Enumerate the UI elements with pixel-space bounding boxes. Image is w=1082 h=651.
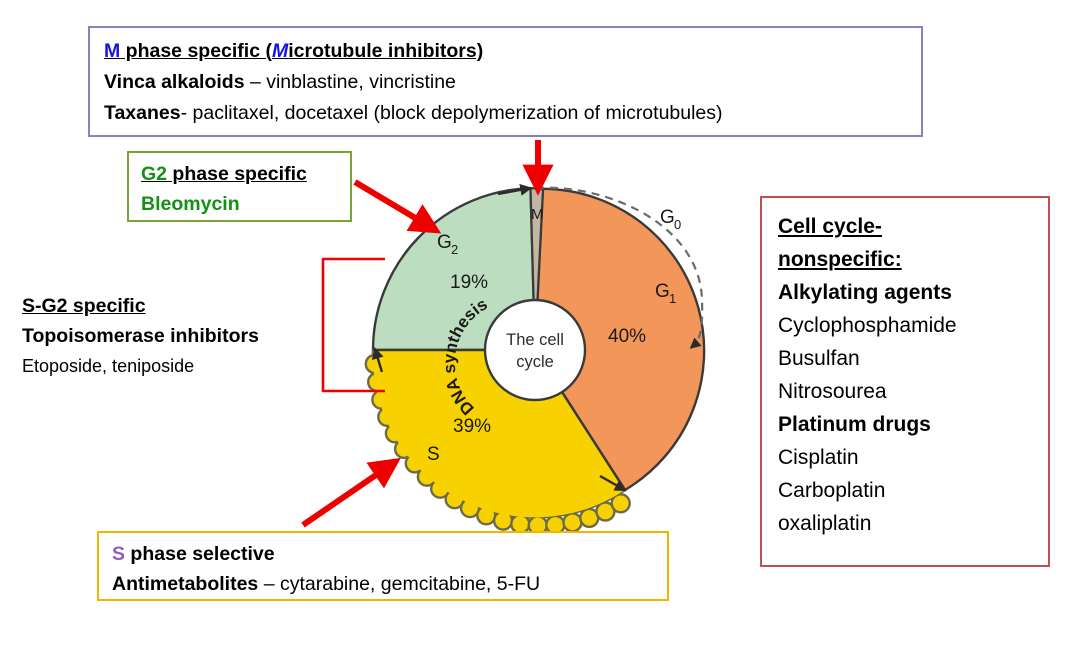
bracket-s-g2 [323,259,385,391]
s-phase-selective-box: S phase selective Antimetabolites – cyta… [97,531,669,601]
s-g2-title: S-G2 specific [22,291,332,321]
pie-value-g1: 40% [608,326,646,347]
g2-phase-title: G2 phase specific [141,159,350,189]
g2-phase-specific-box: G2 phase specific Bleomycin [127,151,352,222]
g0-dashed-arc [536,188,702,346]
pie-label-g1-sub: 1 [669,291,676,306]
m-phase-title-ital: M [272,40,288,62]
s-phase-title-black: phase selective [125,543,275,565]
pie-label-dna-synthesis: DNA synthesis [440,294,491,418]
alkylating-drug-2: Busulfan [778,342,1048,375]
m-phase-title-mid: phase specific ( [120,40,272,62]
m-phase-title-prefix: M [104,40,120,62]
cell-cycle-nonspecific-box: Cell cycle- nonspecific: Alkylating agen… [760,196,1050,567]
pie-sector-g1 [535,189,704,490]
pie-sector-m [531,188,544,350]
alkylating-drug-3: Nitrosourea [778,375,1048,408]
vinca-alkaloids-label: Vinca alkaloids [104,71,245,93]
rim-arrow-left [376,351,383,372]
pie-label-g0-sub: 0 [674,217,681,232]
nonspecific-title-line1: Cell cycle- [778,210,1048,243]
m-phase-title: M phase specific (Microtubule inhibitors… [104,36,909,67]
g2-phase-title-black: phase specific [167,163,307,185]
m-phase-title-suffix: icrotubule inhibitors) [288,40,483,62]
m-phase-line-2: Vinca alkaloids – vinblastine, vincristi… [104,67,909,98]
s-phase-title-violet: S [112,543,125,565]
arrow-g2-phase [355,182,432,228]
center-label-line2: cycle [516,353,554,371]
m-phase-specific-box: M phase specific (Microtubule inhibitors… [88,26,923,137]
topoisomerase-inhibitors-label: Topoisomerase inhibitors [22,321,332,351]
alkylating-agents-heading: Alkylating agents [778,276,1048,309]
pie-label-m: M [531,206,544,223]
rim-arrow-bottom-right [600,476,623,489]
pie-value-g2: 19% [450,272,488,293]
nonspecific-title-line2: nonspecific: [778,243,1048,276]
pie-label-g2-sub: 2 [451,242,458,257]
pie-sector-g2 [373,188,535,350]
platinum-drug-3: oxaliplatin [778,507,1048,540]
platinum-drug-2: Carboplatin [778,474,1048,507]
s-phase-title: S phase selective [112,539,667,569]
pie-label-g1: G [655,281,670,302]
pie-label-g0: G [660,207,675,228]
g2-phase-title-green: G2 [141,163,167,185]
topoisomerase-drugs: Etoposide, teniposide [22,351,332,381]
taxanes-label: Taxanes [104,102,181,124]
s-phase-line-2: Antimetabolites – cytarabine, gemcitabin… [112,569,667,599]
m-phase-line-3: Taxanes- paclitaxel, docetaxel (block de… [104,98,909,129]
antimetabolites-drugs: – cytarabine, gemcitabine, 5-FU [258,573,540,595]
vinca-alkaloids-drugs: – vinblastine, vincristine [245,71,456,93]
center-label-line1: The cell [506,331,564,349]
s-g2-specific-block: S-G2 specific Topoisomerase inhibitors E… [22,291,332,381]
taxanes-drugs: - paclitaxel, docetaxel (block depolymer… [181,102,723,124]
pie-label-s: S [427,444,440,465]
rim-arrow-top [498,189,528,195]
platinum-drug-1: Cisplatin [778,441,1048,474]
alkylating-drug-1: Cyclophosphamide [778,309,1048,342]
cell-cycle-center-circle [485,300,585,400]
antimetabolites-label: Antimetabolites [112,573,258,595]
pie-sector-s [366,350,630,534]
arrow-s-phase [303,464,392,525]
pie-label-g2: G [437,232,452,253]
bleomycin-label: Bleomycin [141,189,350,219]
platinum-drugs-heading: Platinum drugs [778,408,1048,441]
pie-value-s: 39% [453,416,491,437]
